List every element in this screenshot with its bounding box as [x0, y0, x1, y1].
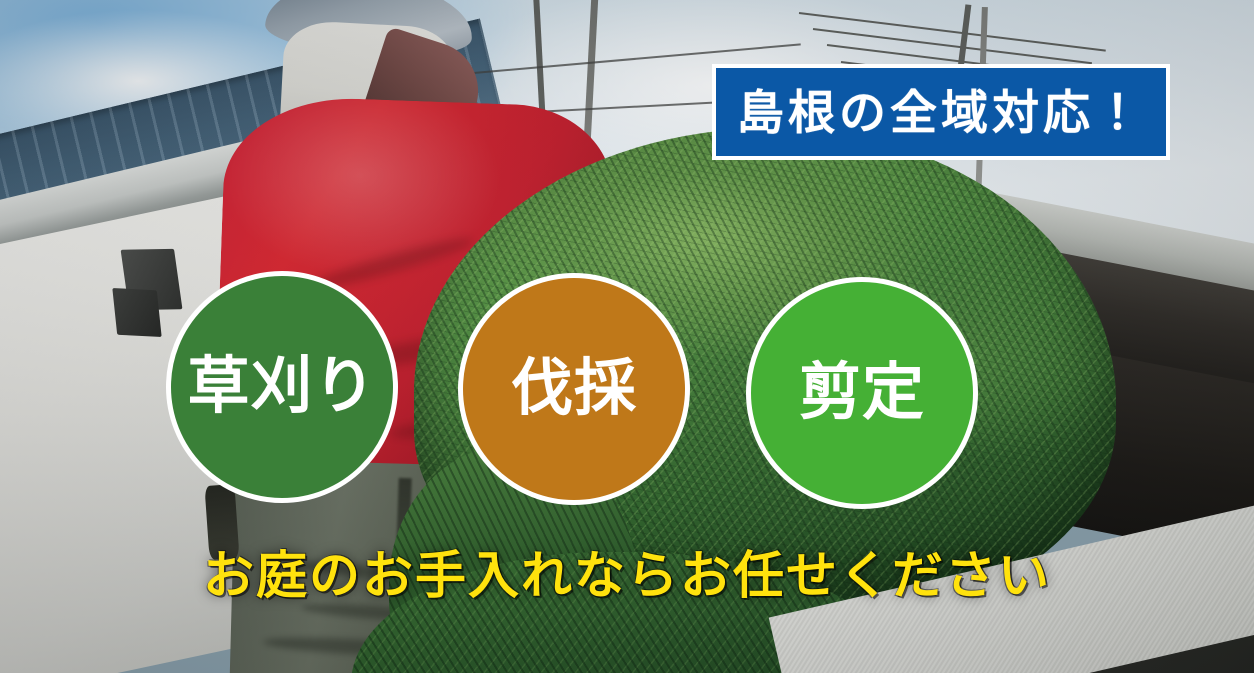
region-coverage-badge: 島根の全域対応！: [712, 64, 1170, 160]
service-circle-sentei[interactable]: 剪定: [746, 277, 978, 509]
hero-banner: 島根の全域対応！ 草刈り 伐採 剪定 お庭のお手入れならお任せください: [0, 0, 1254, 673]
tool-holster: [204, 484, 239, 560]
wall-fixture: [113, 288, 162, 337]
service-circle-label: 伐採: [511, 358, 637, 420]
service-circle-label: 剪定: [799, 362, 925, 424]
region-coverage-label: 島根の全域対応！: [737, 89, 1145, 136]
service-circle-bassai[interactable]: 伐採: [458, 273, 690, 505]
service-circle-label: 草刈り: [187, 356, 376, 418]
service-circle-kusakari[interactable]: 草刈り: [166, 271, 398, 503]
